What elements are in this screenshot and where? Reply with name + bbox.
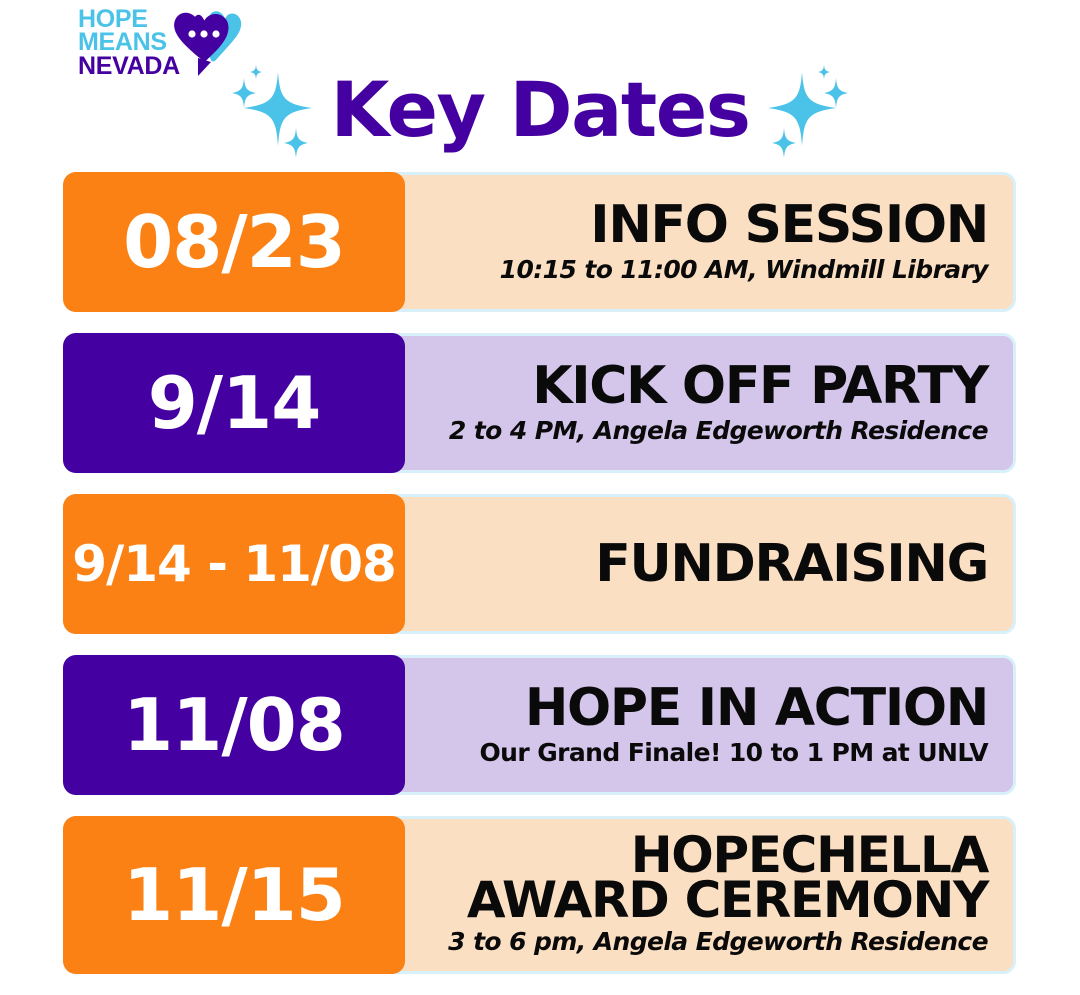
- sparkle-icon: [222, 60, 322, 160]
- date-label: 08/23: [123, 206, 345, 278]
- event-title-line-2: AWARD CEREMONY: [467, 878, 988, 923]
- key-date-row: 9/14 KICK OFF PARTY 2 to 4 PM, Angela Ed…: [0, 333, 1080, 473]
- row-content: FUNDRAISING: [405, 494, 1010, 634]
- row-content: HOPE IN ACTION Our Grand Finale! 10 to 1…: [405, 655, 1010, 795]
- date-badge: 9/14: [63, 333, 405, 473]
- key-date-row: 11/15 HOPECHELLA AWARD CEREMONY 3 to 6 p…: [0, 816, 1080, 974]
- row-content: INFO SESSION 10:15 to 11:00 AM, Windmill…: [405, 172, 1010, 312]
- event-title: FUNDRAISING: [595, 538, 988, 590]
- page-title: Key Dates: [330, 72, 749, 148]
- sparkle-icon: [758, 60, 858, 160]
- key-dates-list: 08/23 INFO SESSION 10:15 to 11:00 AM, Wi…: [0, 172, 1080, 995]
- row-content: KICK OFF PARTY 2 to 4 PM, Angela Edgewor…: [405, 333, 1010, 473]
- event-subtitle: Our Grand Finale! 10 to 1 PM at UNLV: [480, 739, 988, 768]
- date-badge: 11/15: [63, 816, 405, 974]
- event-subtitle: 10:15 to 11:00 AM, Windmill Library: [500, 256, 988, 285]
- date-label: 9/14: [148, 367, 321, 439]
- event-title: HOPE IN ACTION: [525, 682, 988, 734]
- header: HOPE MEANS NEVADA Key Dates: [0, 0, 1080, 170]
- date-badge: 11/08: [63, 655, 405, 795]
- key-date-row: 9/14 - 11/08 FUNDRAISING: [0, 494, 1080, 634]
- date-label: 11/08: [123, 689, 345, 761]
- event-title: HOPECHELLA AWARD CEREMONY: [467, 833, 988, 923]
- date-label: 11/15: [123, 859, 345, 931]
- event-subtitle: 2 to 4 PM, Angela Edgeworth Residence: [449, 417, 988, 446]
- event-subtitle: 3 to 6 pm, Angela Edgeworth Residence: [448, 928, 988, 957]
- key-date-row: 11/08 HOPE IN ACTION Our Grand Finale! 1…: [0, 655, 1080, 795]
- logo-dot-1: [188, 30, 195, 37]
- date-badge: 9/14 - 11/08: [63, 494, 405, 634]
- row-content: HOPECHELLA AWARD CEREMONY 3 to 6 pm, Ang…: [405, 816, 1010, 974]
- logo-dot-2: [200, 30, 207, 37]
- event-title: KICK OFF PARTY: [532, 360, 988, 412]
- logo-dot-3: [212, 30, 219, 37]
- page-title-row: Key Dates: [0, 55, 1080, 165]
- date-label: 9/14 - 11/08: [72, 539, 396, 589]
- event-title: INFO SESSION: [590, 199, 988, 251]
- date-badge: 08/23: [63, 172, 405, 312]
- key-date-row: 08/23 INFO SESSION 10:15 to 11:00 AM, Wi…: [0, 172, 1080, 312]
